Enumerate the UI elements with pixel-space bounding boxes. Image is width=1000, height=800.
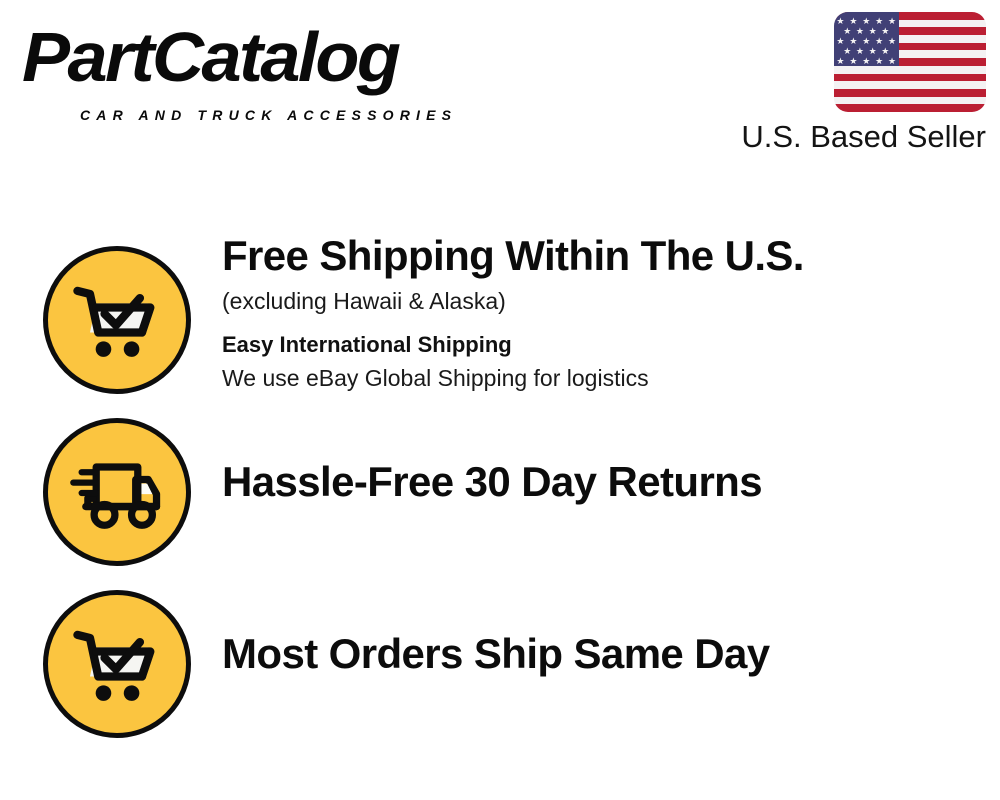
feature-title: Most Orders Ship Same Day <box>222 630 982 677</box>
brand-tagline: CAR AND TRUCK ACCESSORIES <box>80 108 457 122</box>
star-icon: ★ <box>836 57 844 66</box>
star-icon: ★ <box>869 27 877 36</box>
feature-text-block: Free Shipping Within The U.S. (excluding… <box>222 232 982 393</box>
flag-stripe <box>834 104 986 112</box>
flag-stripe <box>834 89 986 97</box>
flag-star-row: ★ ★ ★ ★ ★ <box>834 17 899 26</box>
star-icon: ★ <box>862 17 870 26</box>
star-icon: ★ <box>849 17 857 26</box>
star-icon: ★ <box>888 37 896 46</box>
brand-logo: PartCatalog CAR AND TRUCK ACCESSORIES <box>22 22 492 122</box>
star-icon: ★ <box>888 17 896 26</box>
flag-stripe <box>834 81 986 89</box>
star-icon: ★ <box>869 47 877 56</box>
star-icon: ★ <box>875 37 883 46</box>
feature-text-block: Most Orders Ship Same Day <box>222 630 982 677</box>
seller-banner-page: PartCatalog CAR AND TRUCK ACCESSORIES <box>0 0 1000 800</box>
star-icon: ★ <box>849 37 857 46</box>
flag-stripe <box>834 74 986 82</box>
us-flag-icon: ★ ★ ★ ★ ★ ★ ★ ★ ★ ★ ★ ★ <box>834 12 986 112</box>
star-icon: ★ <box>856 47 864 56</box>
star-icon: ★ <box>875 17 883 26</box>
star-icon: ★ <box>881 27 889 36</box>
banner-header: PartCatalog CAR AND TRUCK ACCESSORIES <box>0 0 1000 190</box>
feature-subtitle-detail: We use eBay Global Shipping for logistic… <box>222 364 982 394</box>
delivery-truck-icon <box>43 418 191 566</box>
flag-star-row: ★ ★ ★ ★ ★ <box>834 57 899 66</box>
feature-item: Most Orders Ship Same Day <box>0 576 1000 748</box>
flag-star-row: ★ ★ ★ ★ <box>834 47 899 56</box>
star-icon: ★ <box>856 27 864 36</box>
us-based-seller-label: U.S. Based Seller <box>741 120 986 154</box>
brand-wordmark: PartCatalog <box>22 22 398 92</box>
feature-subtitle-bold: Easy International Shipping <box>222 331 982 360</box>
star-icon: ★ <box>843 47 851 56</box>
flag-stripe <box>834 97 986 105</box>
star-icon: ★ <box>875 57 883 66</box>
feature-title: Hassle-Free 30 Day Returns <box>222 458 982 505</box>
feature-item: Free Shipping Within The U.S. (excluding… <box>0 232 1000 404</box>
flag-canton: ★ ★ ★ ★ ★ ★ ★ ★ ★ ★ ★ ★ <box>834 12 899 66</box>
star-icon: ★ <box>843 27 851 36</box>
feature-text-block: Hassle-Free 30 Day Returns <box>222 458 982 505</box>
star-icon: ★ <box>862 57 870 66</box>
flag-star-row: ★ ★ ★ ★ <box>834 27 899 36</box>
feature-item: Hassle-Free 30 Day Returns <box>0 404 1000 576</box>
feature-title: Free Shipping Within The U.S. <box>222 232 982 279</box>
star-icon: ★ <box>849 57 857 66</box>
star-icon: ★ <box>862 37 870 46</box>
feature-subtitle: (excluding Hawaii & Alaska) <box>222 287 982 317</box>
flag-star-row: ★ ★ ★ ★ ★ <box>834 37 899 46</box>
star-icon: ★ <box>881 47 889 56</box>
star-icon: ★ <box>888 57 896 66</box>
flag-stripe <box>834 66 986 74</box>
us-based-seller-badge: ★ ★ ★ ★ ★ ★ ★ ★ ★ ★ ★ ★ <box>716 12 986 157</box>
shopping-cart-check-icon <box>43 246 191 394</box>
shopping-cart-check-icon <box>43 590 191 738</box>
star-icon: ★ <box>836 17 844 26</box>
star-icon: ★ <box>836 37 844 46</box>
